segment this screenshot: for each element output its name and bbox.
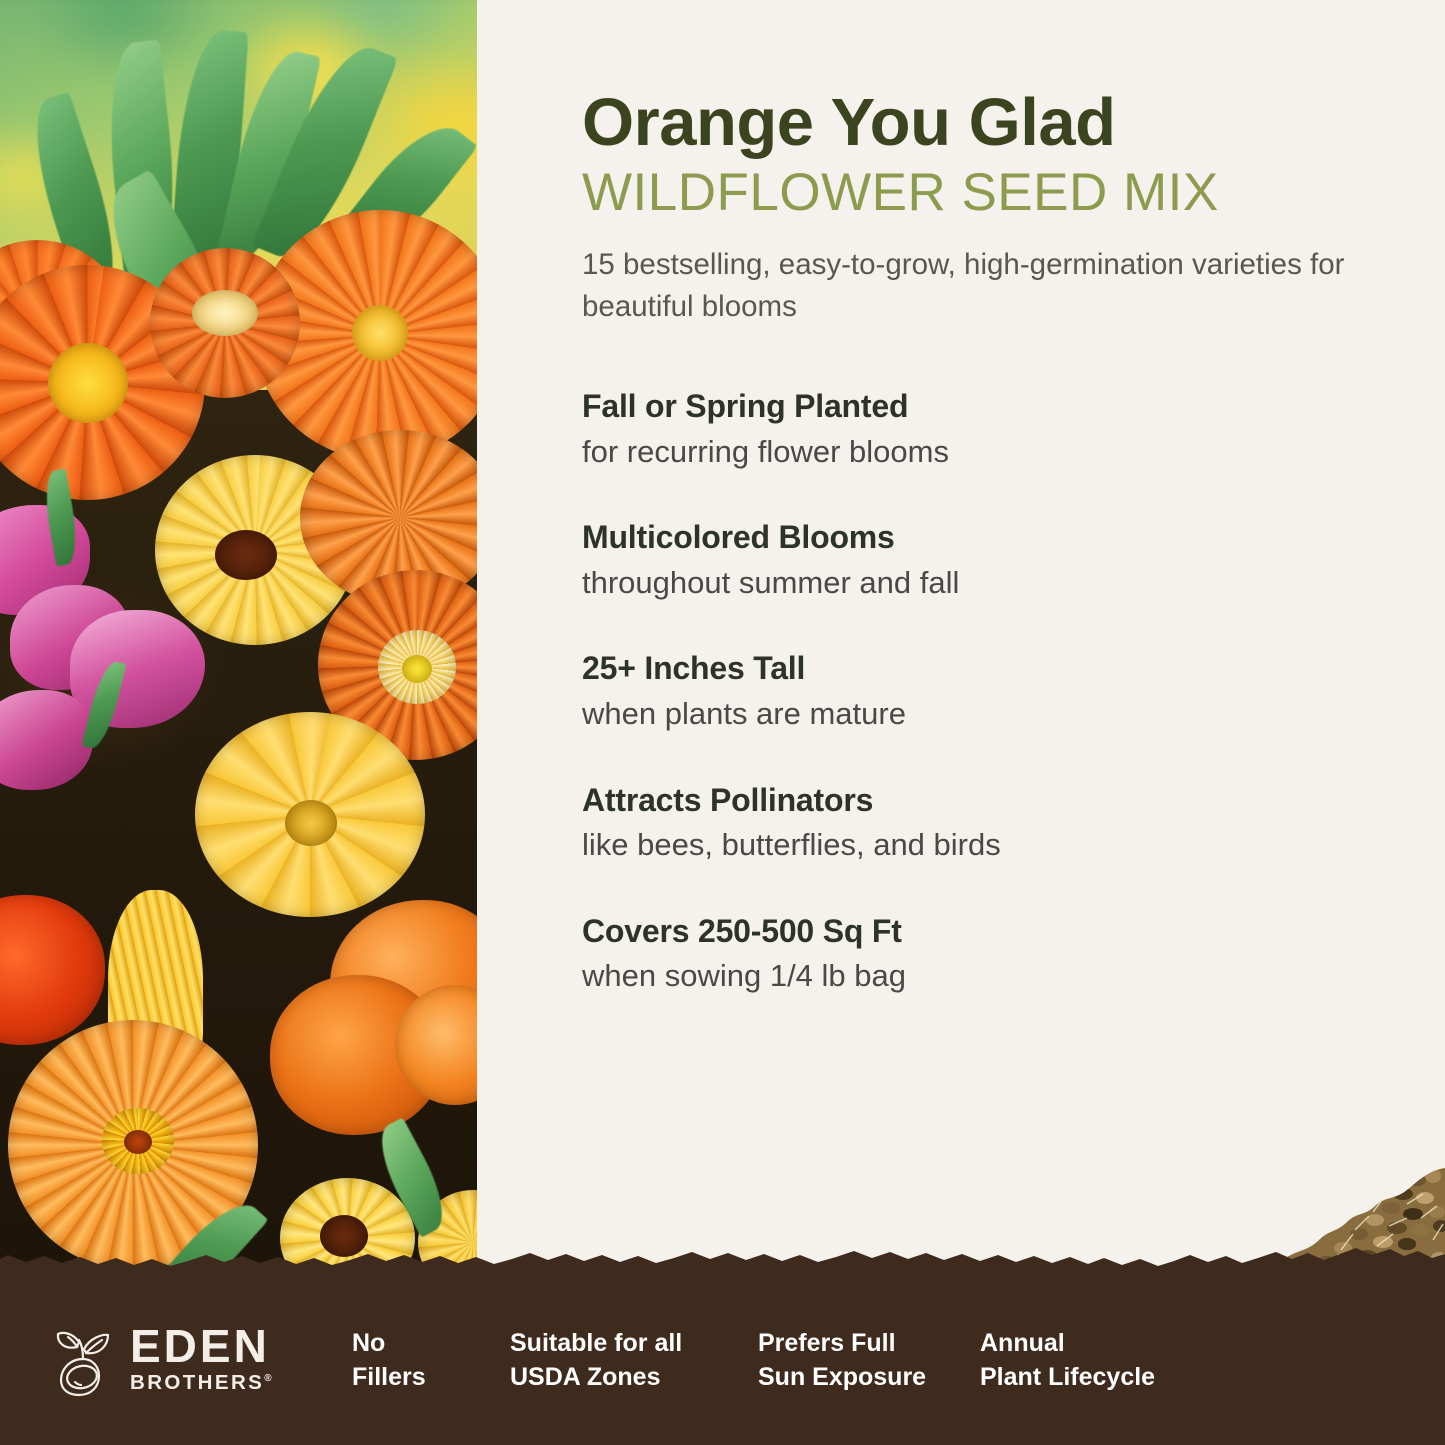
registered-trademark-icon: ®: [264, 1373, 274, 1384]
feature-item: Fall or Spring Planted for recurring flo…: [582, 387, 1385, 471]
feature-heading: Fall or Spring Planted: [582, 387, 1385, 425]
feature-item: Covers 250-500 Sq Ft when sowing 1/4 lb …: [582, 912, 1385, 996]
badge-line2: Fillers: [352, 1361, 510, 1395]
brand-name: EDEN: [130, 1325, 274, 1369]
product-subtitle: WILDFLOWER SEED MIX: [582, 164, 1385, 221]
footer-bar: EDEN BROTHERS® No Fillers Suitable for a…: [0, 1277, 1445, 1445]
flower-center: [124, 1130, 152, 1154]
flower-photo: [0, 0, 477, 1300]
feature-detail: when sowing 1/4 lb bag: [582, 957, 1385, 996]
badge-line1: No: [352, 1327, 510, 1361]
seed-packet-graphic: Orange You Glad WILDFLOWER SEED MIX 15 b…: [0, 0, 1445, 1445]
feature-detail: for recurring flower blooms: [582, 433, 1385, 472]
product-info-panel: Orange You Glad WILDFLOWER SEED MIX 15 b…: [477, 0, 1445, 1300]
feature-detail: throughout summer and fall: [582, 564, 1385, 603]
feature-detail: like bees, butterflies, and birds: [582, 826, 1385, 865]
badge-no-fillers: No Fillers: [352, 1327, 510, 1395]
flower-center: [192, 290, 258, 336]
flower-center: [285, 800, 337, 846]
feature-heading: 25+ Inches Tall: [582, 649, 1385, 687]
badge-usda-zones: Suitable for all USDA Zones: [510, 1327, 758, 1395]
feature-heading: Multicolored Blooms: [582, 518, 1385, 556]
feature-detail: when plants are mature: [582, 695, 1385, 734]
feature-heading: Covers 250-500 Sq Ft: [582, 912, 1385, 950]
flower-center: [352, 305, 408, 361]
page-title: Orange You Glad: [582, 88, 1385, 158]
brand-logo[interactable]: EDEN BROTHERS®: [52, 1325, 352, 1397]
badge-line2: Sun Exposure: [758, 1361, 980, 1395]
feature-item: Attracts Pollinators like bees, butterfl…: [582, 781, 1385, 865]
badge-line1: Suitable for all: [510, 1327, 758, 1361]
product-description: 15 bestselling, easy-to-grow, high-germi…: [582, 244, 1385, 330]
badge-line1: Prefers Full: [758, 1327, 980, 1361]
flower-center: [402, 655, 432, 683]
feature-badge-row: No Fillers Suitable for all USDA Zones P…: [352, 1327, 1180, 1395]
feature-heading: Attracts Pollinators: [582, 781, 1385, 819]
torn-paper-edge: [0, 1237, 1445, 1277]
feature-item: 25+ Inches Tall when plants are mature: [582, 649, 1385, 733]
badge-plant-lifecycle: Annual Plant Lifecycle: [980, 1327, 1180, 1395]
badge-line1: Annual: [980, 1327, 1180, 1361]
feature-list: Fall or Spring Planted for recurring flo…: [582, 387, 1385, 996]
badge-line2: Plant Lifecycle: [980, 1361, 1180, 1395]
sprout-icon: [52, 1325, 116, 1397]
badge-sun-exposure: Prefers Full Sun Exposure: [758, 1327, 980, 1395]
feature-item: Multicolored Blooms throughout summer an…: [582, 518, 1385, 602]
flower-center: [215, 530, 277, 580]
badge-line2: USDA Zones: [510, 1361, 758, 1395]
flower-center: [48, 343, 128, 423]
brand-subname: BROTHERS®: [130, 1369, 274, 1398]
